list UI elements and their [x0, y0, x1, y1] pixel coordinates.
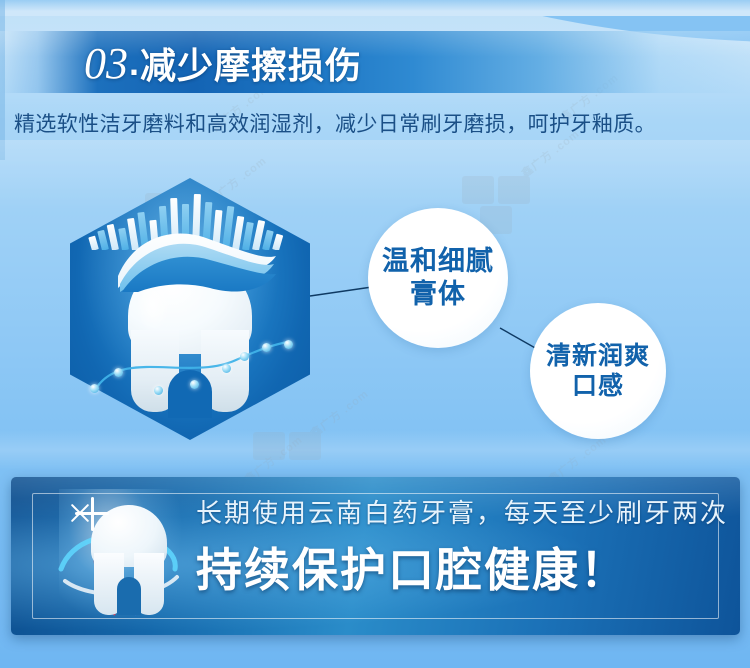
callout-bubble-fresh-taste[interactable]: 清新润爽 口感 [530, 303, 666, 439]
orbit-dot [262, 343, 271, 352]
bottom-banner: 长期使用云南白药牙膏，每天至少刷牙两次 持续保护口腔健康！ [11, 477, 740, 635]
section-separator: . [129, 42, 140, 84]
banner-headline-secondary: 长期使用云南白药牙膏，每天至少刷牙两次 [196, 493, 726, 530]
section-title-label: 减少摩擦损伤 [140, 37, 362, 89]
orbit-dot [222, 364, 231, 373]
bubble2-line1: 清新润爽 [546, 341, 650, 372]
section-number: 03 [84, 38, 128, 89]
bubble1-line2: 膏体 [382, 278, 494, 311]
orbit-dot [114, 368, 123, 377]
orbit-dot [154, 386, 163, 395]
tooth-paste-hexagon [70, 178, 310, 440]
callout-bubble-mild-paste[interactable]: 温和细腻 膏体 [368, 208, 508, 348]
bubble2-line2: 口感 [546, 371, 650, 402]
banner-tooth-notch [117, 577, 141, 615]
banner-headline-primary: 持续保护口腔健康！ [196, 534, 726, 600]
shining-tooth-icon [49, 495, 191, 619]
banner-tooth-body [91, 505, 167, 613]
orbit-dots-icon [88, 330, 296, 408]
page-title: 03 . 减少摩擦损伤 [84, 36, 362, 90]
orbit-dot [90, 384, 99, 393]
orbit-dot [284, 340, 293, 349]
toothpaste-swirl-icon [114, 230, 278, 292]
banner-text-block: 长期使用云南白药牙膏，每天至少刷牙两次 持续保护口腔健康！ [196, 493, 726, 600]
section-subtitle: 精选软性洁牙磨料和高效润湿剂，减少日常刷牙磨损，呵护牙釉质。 [14, 108, 740, 138]
bubble1-line1: 温和细腻 [382, 245, 494, 278]
orbit-dot [240, 352, 249, 361]
background-top-band [0, 0, 750, 16]
orbit-dot [190, 380, 199, 389]
promo-page: 鑫广方 .com 鑫广方 .com 鑫广方 .com 鑫广方 .com 鑫广方 … [0, 0, 750, 668]
